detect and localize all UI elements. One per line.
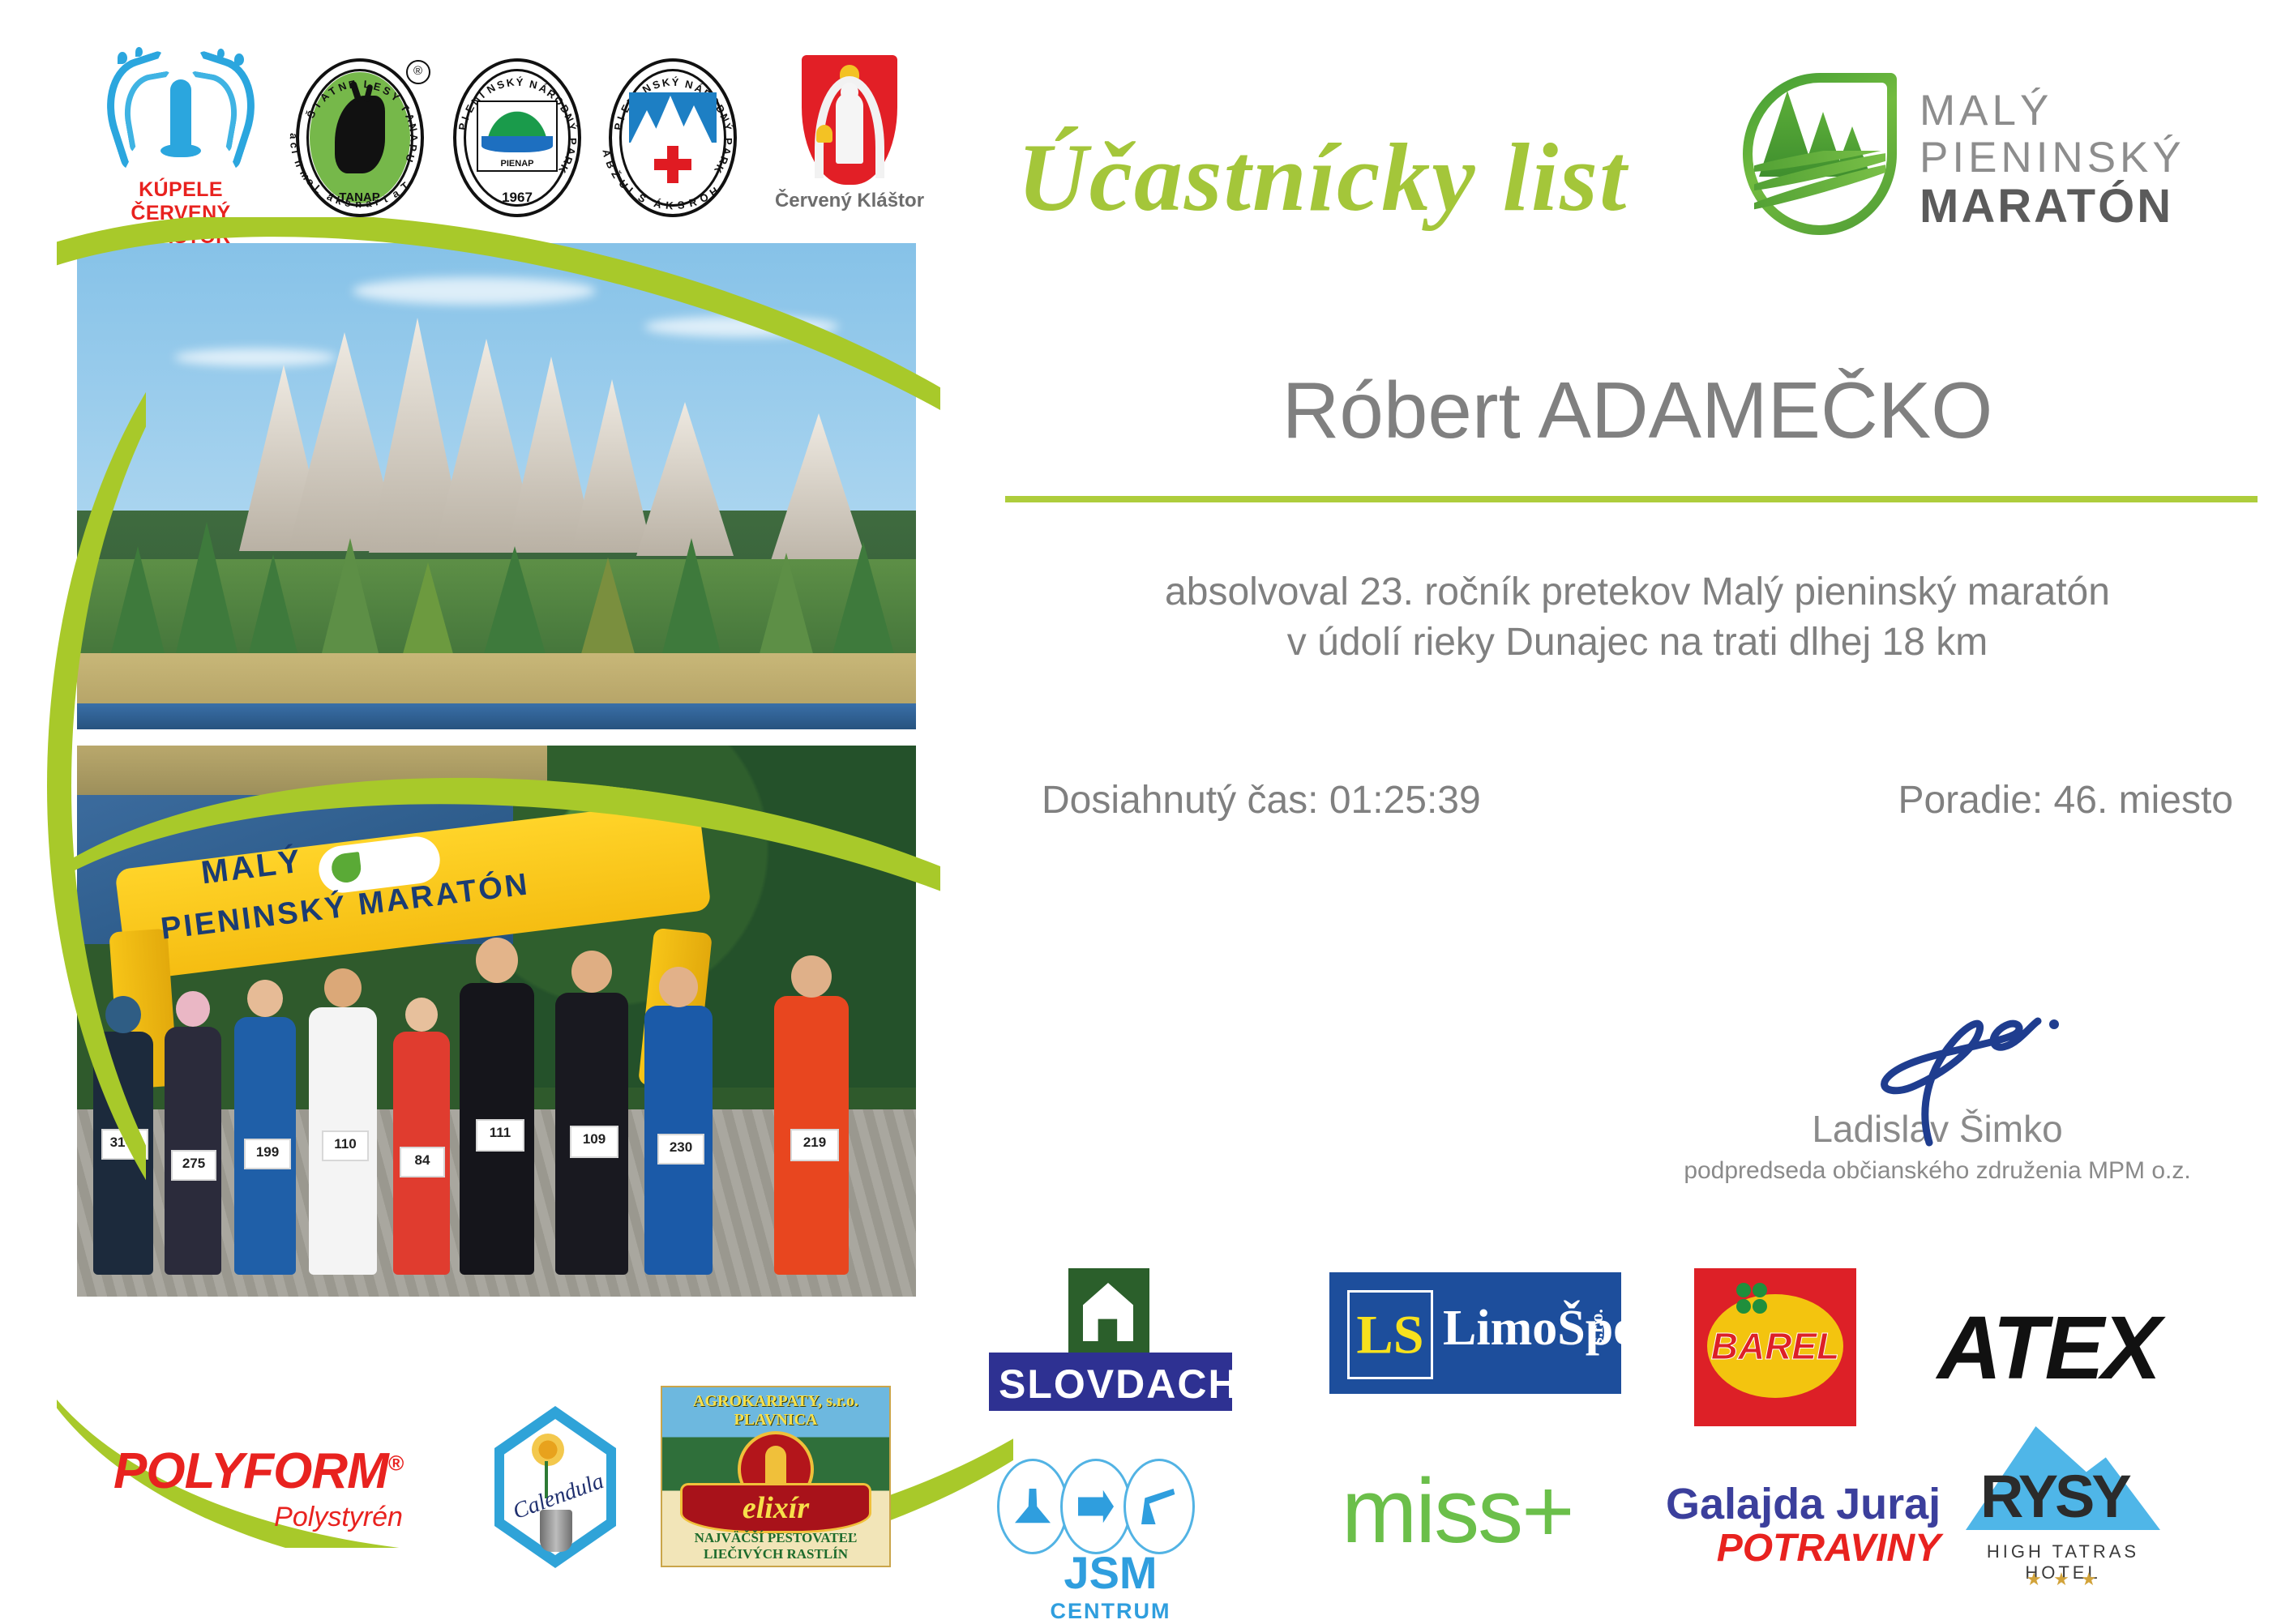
sponsor-galajda-line-2: POTRAVINY — [1666, 1526, 1941, 1571]
leaf-mountain-icon — [1743, 73, 1897, 235]
placement: Poradie: 46. miesto — [1898, 778, 2233, 823]
sponsor-agrokarpaty-elixir: AGROKARPATY, s.r.o. PLAVNICA elixír NAJV… — [661, 1386, 891, 1567]
logo-statne-lesy-tanapu: ® Š T Á T N E L E S Y T A N A P U T a t — [289, 58, 430, 217]
runner: 31-A — [93, 1032, 153, 1275]
sponsor-barel: BAREL — [1694, 1268, 1856, 1426]
logo-pienap: P I E N I N S K Ý N Á R O D N Ý P A R K — [444, 58, 590, 217]
organizer-logos-row: KÚPELE ČERVENÝ KLÁŠTOR Smerdžonka ® Š T … — [96, 47, 931, 233]
brand-logo: MALÝ PIENINSKÝ MARATÓN — [1743, 73, 2262, 235]
red-cross-icon — [654, 146, 691, 183]
bib-number: 31-A — [101, 1129, 148, 1160]
bib-number: 109 — [570, 1126, 618, 1158]
sponsor-polyform-subtitle: Polystyrén — [113, 1502, 403, 1533]
runner: 109 — [555, 993, 628, 1275]
logo-cerveny-klastor: Červený Kláštor — [768, 55, 931, 212]
bib-number: 110 — [322, 1130, 369, 1161]
sponsor-agro-center-text: elixír — [683, 1485, 869, 1531]
bib-number: 199 — [244, 1139, 291, 1169]
sponsor-agro-bottom-line-1: NAJVÄČŠÍ PESTOVATEĽ — [662, 1530, 889, 1546]
sponsor-agro-top-text: AGROKARPATY, s.r.o. PLAVNICA — [662, 1392, 889, 1430]
sponsor-slovdach: SLOVDACH s.r.o. — [989, 1268, 1232, 1426]
sponsor-galajda-line-1: Galajda Juraj — [1666, 1479, 1941, 1529]
sponsor-limospes-glyph: LS — [1356, 1303, 1423, 1367]
marigold-flower-icon — [532, 1434, 564, 1466]
tanap-seal-icon: ® Š T Á T N E L E S Y T A N A P U T a t — [296, 58, 424, 217]
sponsor-rysy-text: RYSY — [1980, 1462, 2129, 1531]
pienap-year: 1967 — [453, 190, 581, 206]
mountain-photo — [77, 243, 916, 729]
mortar-pestle-icon — [540, 1510, 572, 1552]
runner: 230 — [644, 1006, 713, 1275]
logo-horska-sluzba: P I E N I N S K Ý N Á R O D N Ý P A R K — [600, 58, 746, 217]
brand-wordmark: MALÝ PIENINSKÝ MARATÓN — [1920, 88, 2185, 232]
paint-brush-icon — [997, 1459, 1068, 1554]
pienap-label: PIENAP — [478, 159, 556, 169]
runners-photo: MALÝ PIENINSKÝ MARATÓN 31-A 275 199 110 … — [77, 746, 916, 1297]
sponsor-atex: ATEX — [1937, 1297, 2159, 1400]
tanap-monogram: TANAP — [339, 192, 380, 203]
clover-icon — [1736, 1283, 1767, 1314]
brand-line-3: MARATÓN — [1920, 182, 2185, 232]
bib-number: 111 — [476, 1119, 524, 1152]
sponsor-barel-text: BAREL — [1707, 1294, 1843, 1398]
sponsor-polyform-text: POLYFORM — [113, 1443, 388, 1499]
logo-cerveny-klastor-caption: Červený Kláštor — [768, 190, 931, 212]
mountain-icon — [629, 92, 717, 143]
bib-number: 219 — [790, 1129, 839, 1161]
sponsor-agro-bottom-line-2: LIEČIVÝCH RASTLÍN — [662, 1546, 889, 1562]
signature-block: Ladislav Šimko podpredseda občianského z… — [1654, 997, 2221, 1185]
sponsor-limospes: LS LimoŠpes s.r.o. — [1329, 1272, 1621, 1394]
page-title: Účastnícky list — [1017, 122, 1628, 233]
achievement-line-2: v údolí rieky Dunajec na trati dlhej 18 … — [1017, 618, 2258, 668]
runner: 219 — [774, 996, 849, 1275]
achievement-text: absolvoval 23. ročník pretekov Malý pien… — [1017, 567, 2258, 668]
handwritten-signature — [1654, 997, 2221, 1151]
sponsor-slovdach-suffix: s.r.o. — [1227, 1361, 1274, 1589]
sponsor-polyform: POLYFORM® Polystyrén — [113, 1442, 403, 1533]
spray-gun-icon — [1123, 1459, 1195, 1554]
accent-rule — [1005, 496, 2258, 502]
bib-number: 84 — [400, 1147, 445, 1177]
coat-of-arms-icon — [802, 55, 897, 185]
brand-line-2: PIENINSKÝ — [1920, 135, 2185, 182]
logo-kupele-title: KÚPELE ČERVENÝ KLÁŠTOR — [96, 178, 266, 249]
brand-line-1: MALÝ — [1920, 88, 2185, 135]
sponsor-galajda-juraj: Galajda Juraj POTRAVINY — [1666, 1479, 1941, 1571]
photo-collage: MALÝ PIENINSKÝ MARATÓN 31-A 275 199 110 … — [77, 243, 920, 1297]
sponsor-rysy-hotel: RYSY HIGH TATRAS HOTEL ★ ★ ★ — [1966, 1426, 2160, 1596]
results-row: Dosiahnutý čas: 01:25:39 Poradie: 46. mi… — [1017, 778, 2258, 823]
logo-kupele-cerveny-klastor: KÚPELE ČERVENÝ KLÁŠTOR Smerdžonka — [96, 47, 266, 276]
pienap-seal-icon: P I E N I N S K Ý N Á R O D N Ý P A R K — [453, 58, 581, 217]
bib-number: 230 — [657, 1134, 704, 1165]
agro-ribbon: elixír — [680, 1483, 871, 1533]
runner: 199 — [234, 1017, 296, 1275]
paint-roller-icon — [1060, 1459, 1132, 1554]
sponsor-jsm-subtitle: CENTRUM — [997, 1599, 1224, 1624]
horska-sluzba-seal-icon: P I E N I N S K Ý N Á R O D N Ý P A R K — [609, 58, 737, 217]
runner: 111 — [460, 983, 534, 1275]
signatory-role: podpredseda občianského združenia MPM o.… — [1654, 1157, 2221, 1185]
sponsor-limospes-text: LimoŠpes — [1443, 1300, 1655, 1357]
bib-number: 275 — [171, 1150, 216, 1181]
sponsor-calendula: Calendula — [494, 1406, 616, 1568]
limospes-mark: LS — [1347, 1290, 1433, 1379]
achievement-line-1: absolvoval 23. ročník pretekov Malý pien… — [1017, 567, 2258, 618]
pienap-emblem: PIENAP — [477, 100, 558, 172]
water-wings-icon — [100, 47, 262, 177]
registered-mark: ® — [388, 1451, 403, 1475]
runner: 110 — [309, 1007, 377, 1275]
sponsor-miss-plus: miss+ — [1342, 1459, 1573, 1563]
sponsor-slovdach-text: SLOVDACH — [999, 1361, 1239, 1408]
sponsor-limospes-suffix: s.r.o. — [1586, 1309, 1607, 1344]
runner: 84 — [393, 1032, 450, 1275]
finish-time: Dosiahnutý čas: 01:25:39 — [1042, 778, 1481, 823]
hotel-stars: ★ ★ ★ — [1966, 1569, 2160, 1590]
runner: 275 — [165, 1027, 221, 1275]
sponsor-jsm-centrum: JSM CENTRUM — [997, 1459, 1224, 1609]
participant-name: Róbert ADAMEČKO — [1017, 365, 2258, 456]
